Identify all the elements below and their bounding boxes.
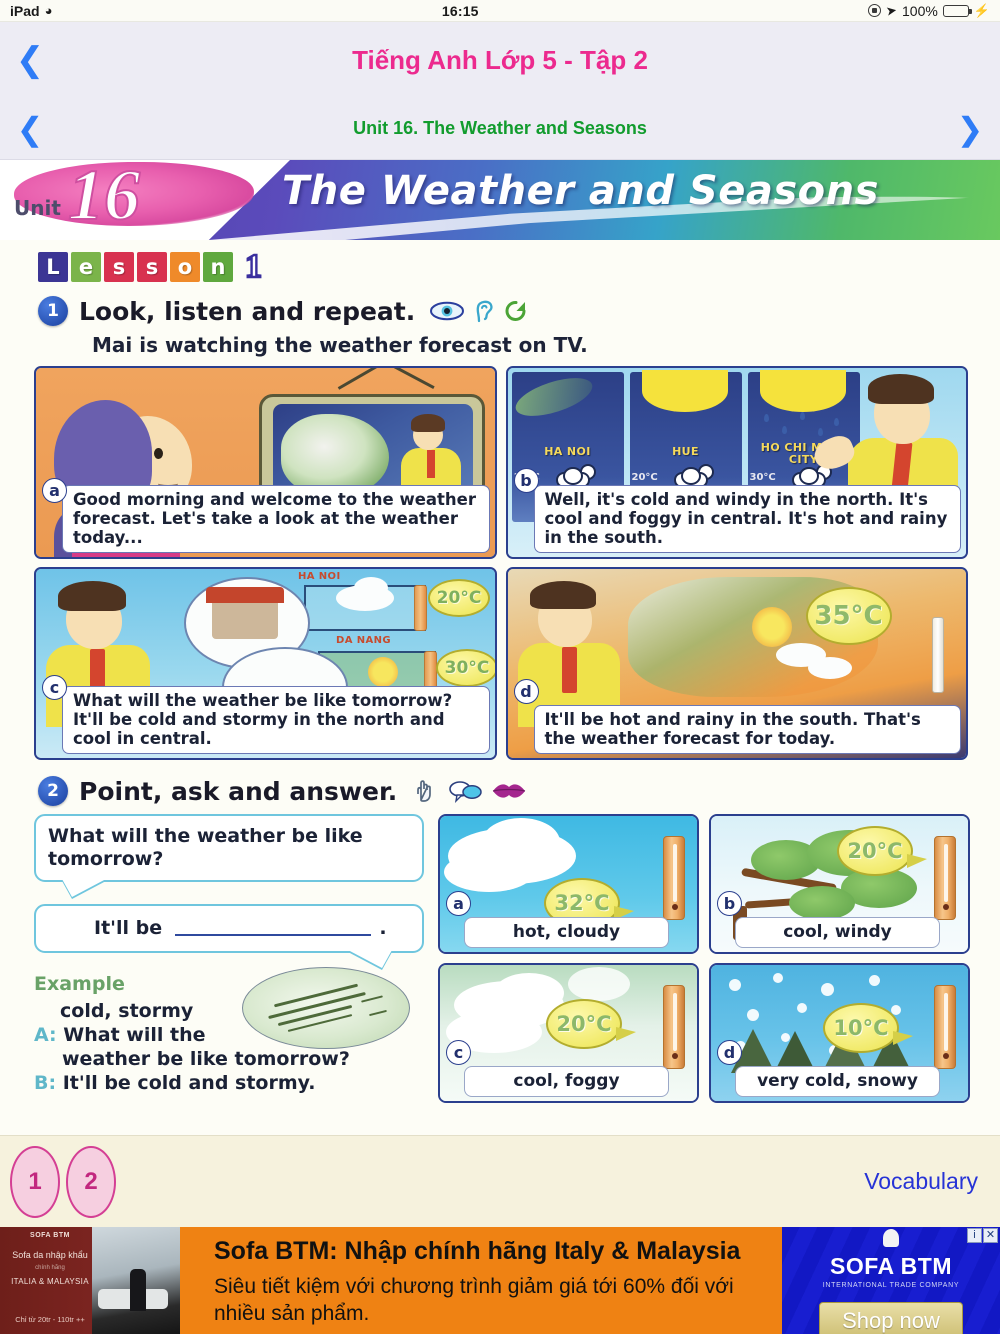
ad-thumb-line1: Sofa da nhập khẩu — [4, 1249, 96, 1263]
lesson-tile-o: o — [170, 252, 200, 282]
panel-tag-c: c — [42, 675, 67, 700]
weather-card-a[interactable]: 32°C a hot, cloudy — [438, 814, 699, 954]
weather-card-c[interactable]: 20°C c cool, foggy — [438, 963, 699, 1103]
map-city-danang: DA NANG — [336, 635, 391, 646]
example-section: Example cold, stormy A: What will the we… — [34, 973, 424, 1096]
activity-1-icons — [430, 299, 528, 323]
comic-strip: a Good morning and welcome to the weathe… — [34, 366, 968, 760]
activity-2-left-column: What will the weather be like tomorrow? … — [34, 814, 424, 1103]
bottom-toolbar: 1 2 Vocabulary — [0, 1135, 1000, 1227]
weather-cards-grid: 32°C a hot, cloudy 20°C b cool, windy — [438, 814, 970, 1103]
comic-panel-a[interactable]: a Good morning and welcome to the weathe… — [34, 366, 497, 559]
example-line-b: It'll be cold and stormy. — [63, 1072, 316, 1094]
page-title: Tiếng Anh Lớp 5 - Tập 2 — [0, 45, 1000, 76]
battery-icon — [943, 5, 969, 17]
question-bubble: What will the weather be like tomorrow? — [34, 814, 424, 882]
ad-headline: Sofa BTM: Nhập chính hãng Italy & Malays… — [214, 1236, 768, 1267]
activity-1-intro: Mai is watching the weather forecast on … — [92, 333, 1000, 357]
activity-1-heading: 1 Look, listen and repeat. — [38, 296, 1000, 326]
lesson-tile-e: e — [71, 252, 101, 282]
unit-nav-bar: ❮ Unit 16. The Weather and Seasons ❯ — [0, 98, 1000, 160]
pointing-hand-icon — [412, 778, 438, 804]
status-bar: iPad ◕ 16:15 ➤ 100% ⚡ — [0, 0, 1000, 22]
ad-thumbnail-photo — [92, 1227, 180, 1334]
thermometer-icon-b — [934, 836, 956, 920]
ad-close-icon[interactable]: ✕ — [983, 1228, 998, 1243]
panel-tag-d: d — [514, 679, 539, 704]
banner-unit-title: The Weather and Seasons — [282, 168, 879, 214]
ad-info-button[interactable]: i — [967, 1228, 982, 1243]
example-speaker-b: B: — [34, 1072, 56, 1094]
answer-prefix: It'll be — [94, 917, 162, 939]
app-title-bar: ❮ Tiếng Anh Lớp 5 - Tập 2 — [0, 22, 1000, 98]
ad-brand-panel[interactable]: SOFA BTM INTERNATIONAL TRADE COMPANY Sho… — [782, 1227, 1000, 1334]
unit-banner-image: Unit 16 The Weather and Seasons — [0, 160, 1000, 240]
weather-tag-c: c — [446, 1040, 471, 1065]
lesson-page: Unit 16 The Weather and Seasons L e s s … — [0, 160, 1000, 1135]
example-line-a1: What will the — [63, 1024, 205, 1046]
ad-thumb-logo: SOFA BTM — [4, 1231, 96, 1242]
panel-tag-b: b — [514, 468, 539, 493]
ad-shop-now-button[interactable]: Shop now — [819, 1302, 963, 1334]
ad-brand-name: SOFA BTM — [830, 1255, 952, 1278]
weather-label-d: very cold, snowy — [735, 1066, 940, 1097]
weather-label-c: cool, foggy — [464, 1066, 669, 1097]
panel-caption-a: Good morning and welcome to the weather … — [62, 485, 490, 553]
weather-card-d[interactable]: 10°C d very cold, snowy — [709, 963, 970, 1103]
panel-d-temp: 35°C — [806, 587, 892, 645]
thermometer-icon-a — [663, 836, 685, 920]
speech-bubbles-icon — [448, 779, 482, 803]
page-button-2[interactable]: 2 — [66, 1146, 116, 1218]
map-temp-danang: 30°C — [436, 649, 497, 687]
battery-percent: 100% — [902, 3, 938, 19]
unit-title: Unit 16. The Weather and Seasons — [0, 118, 1000, 139]
ad-thumb-line3: ITALIA & MALAYSIA — [4, 1276, 96, 1288]
comic-panel-d[interactable]: 35°C d It'll be hot and rainy in the sou… — [506, 567, 969, 760]
ad-controls: i ✕ — [967, 1228, 998, 1243]
panel-tag-a: a — [42, 478, 67, 503]
ad-brand-crest-icon — [883, 1229, 899, 1247]
ad-thumb-line2: chính hãng — [4, 1264, 96, 1273]
thermometer-icon-c — [663, 985, 685, 1069]
status-bar-right: ➤ 100% ⚡ — [868, 3, 990, 19]
thermometer-icon-d — [934, 985, 956, 1069]
wifi-icon: ◕ — [45, 3, 53, 18]
panel-caption-d: It'll be hot and rainy in the south. Tha… — [534, 705, 962, 754]
weather-label-a: hot, cloudy — [464, 917, 669, 948]
panel-caption-b: Well, it's cold and windy in the north. … — [534, 485, 962, 553]
status-bar-left: iPad ◕ — [10, 3, 52, 19]
weather-tag-a: a — [446, 891, 471, 916]
banner-unit-number: 16 — [68, 160, 140, 237]
page-button-1[interactable]: 1 — [10, 1146, 60, 1218]
activity-2-heading: 2 Point, ask and answer. — [38, 776, 1000, 806]
banner-unit-word: Unit — [14, 196, 61, 220]
charging-bolt-icon: ⚡ — [974, 3, 990, 19]
example-storm-illustration — [242, 967, 410, 1049]
answer-bubble: It'll be . — [34, 904, 424, 954]
weather-temp-d: 10°C — [823, 1003, 899, 1053]
panel-caption-c: What will the weather be like tomorrow? … — [62, 686, 490, 754]
activity-2-title: Point, ask and answer. — [79, 777, 397, 806]
ad-thumbnail-text: SOFA BTM Sofa da nhập khẩu chính hãng IT… — [4, 1231, 96, 1334]
answer-blank[interactable] — [175, 934, 371, 936]
example-speaker-a: A: — [34, 1024, 57, 1046]
rotation-lock-icon — [868, 4, 881, 17]
activity-1-number: 1 — [38, 296, 68, 326]
ad-brand-tagline: INTERNATIONAL TRADE COMPANY — [823, 1282, 960, 1289]
lesson-heading: L e s s o n 1 — [38, 252, 1000, 282]
lips-icon — [492, 782, 526, 800]
status-bar-time: 16:15 — [52, 3, 868, 19]
weather-tag-d: d — [717, 1040, 742, 1065]
lesson-tile-s1: s — [104, 252, 134, 282]
comic-panel-c[interactable]: HA NOI DA NANG 20°C 30°C c What will the… — [34, 567, 497, 760]
lesson-tile-n: n — [203, 252, 233, 282]
activity-2-icons — [412, 778, 526, 804]
lesson-number: 1 — [245, 252, 262, 282]
activity-1-title: Look, listen and repeat. — [79, 297, 415, 326]
activity-2-number: 2 — [38, 776, 68, 806]
device-name: iPad — [10, 3, 40, 19]
ad-thumbnail[interactable]: SOFA BTM Sofa da nhập khẩu chính hãng IT… — [0, 1227, 180, 1334]
ad-banner[interactable]: SOFA BTM Sofa da nhập khẩu chính hãng IT… — [0, 1227, 1000, 1334]
repeat-icon — [504, 299, 528, 323]
weather-tag-b: b — [717, 891, 742, 916]
forecast-city-hanoi: HA NOI — [512, 446, 624, 458]
weather-temp-b: 20°C — [837, 826, 913, 876]
answer-suffix: . — [379, 917, 386, 939]
forecast-temp-hue: 20°C — [632, 472, 658, 483]
map-temp-hanoi: 20°C — [428, 579, 490, 617]
weather-label-b: cool, windy — [735, 917, 940, 948]
forecast-temp-hcmc: 30°C — [750, 472, 776, 483]
weather-temp-c: 20°C — [546, 999, 622, 1049]
location-arrow-icon: ➤ — [885, 2, 899, 20]
lesson-tile-L: L — [38, 252, 68, 282]
vocabulary-link[interactable]: Vocabulary — [864, 1168, 978, 1195]
ear-icon — [474, 299, 494, 323]
weather-card-b[interactable]: 20°C b cool, windy — [709, 814, 970, 954]
example-line-a2: weather be like tomorrow? — [62, 1048, 424, 1072]
ad-copy: Sofa BTM: Nhập chính hãng Italy & Malays… — [180, 1227, 782, 1334]
lesson-tile-s2: s — [137, 252, 167, 282]
ad-thumb-line4: Chỉ từ 20tr - 110tr ++ — [4, 1314, 96, 1325]
map-city-hanoi: HA NOI — [298, 571, 341, 582]
forecast-city-hue: HUE — [630, 446, 742, 458]
eye-icon — [430, 301, 464, 321]
comic-panel-b[interactable]: HA NOI HUE HO CHI MINH CITY 17°C 20°C 30… — [506, 366, 969, 559]
ad-subtext: Siêu tiết kiệm với chương trình giảm giá… — [214, 1273, 768, 1328]
activity-2-body: What will the weather be like tomorrow? … — [34, 814, 970, 1103]
